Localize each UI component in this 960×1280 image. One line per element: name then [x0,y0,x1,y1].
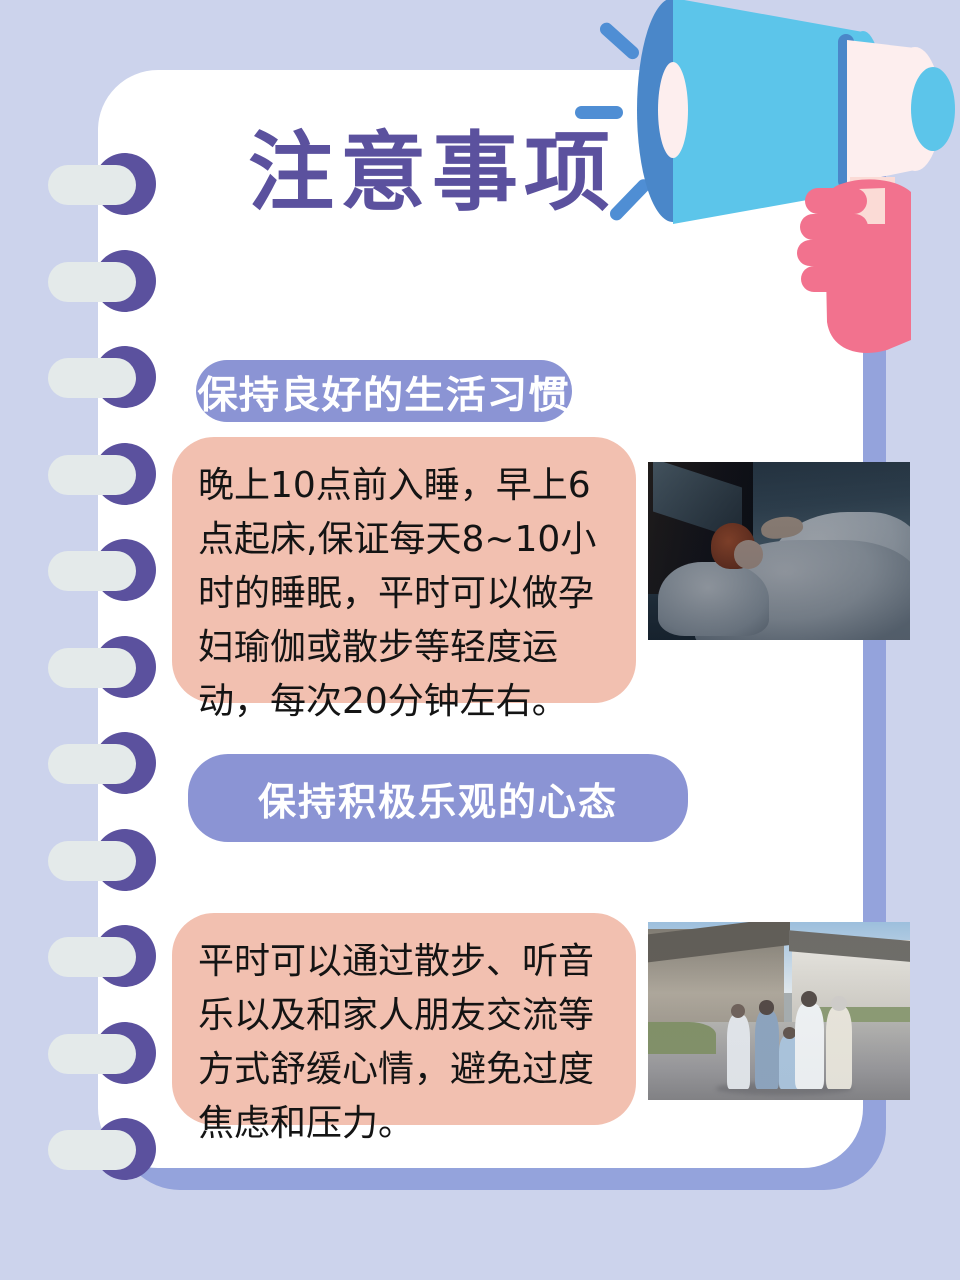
spiral-ring-bar [48,551,136,591]
spiral-ring-bar [48,1130,136,1170]
spiral-ring-bar [48,937,136,977]
spiral-binding [0,0,200,1280]
section-1-body: 晚上10点前入睡，早上6点起床,保证每天8~10小时的睡眠，平时可以做孕妇瑜伽或… [172,437,636,703]
spiral-ring-bar [48,262,136,302]
section-1-pill[interactable]: 保持良好的生活习惯 [196,360,572,422]
spiral-ring-bar [48,455,136,495]
sleeping-woman-photo [648,462,910,640]
spiral-ring-bar [48,165,136,205]
family-walking-photo [648,922,910,1100]
section-2-body: 平时可以通过散步、听音乐以及和家人朋友交流等方式舒缓心情，避免过度焦虑和压力。 [172,913,636,1125]
page-title: 注意事项 [248,130,616,216]
section-2-pill-label: 保持积极乐观的心态 [258,771,618,826]
section-2-pill[interactable]: 保持积极乐观的心态 [188,754,688,842]
spiral-ring-bar [48,358,136,398]
section-1-pill-label: 保持良好的生活习惯 [198,364,570,419]
spiral-ring-bar [48,841,136,881]
spiral-ring-bar [48,744,136,784]
spiral-ring-bar [48,648,136,688]
megaphone-icon [595,0,960,372]
spiral-ring-bar [48,1034,136,1074]
